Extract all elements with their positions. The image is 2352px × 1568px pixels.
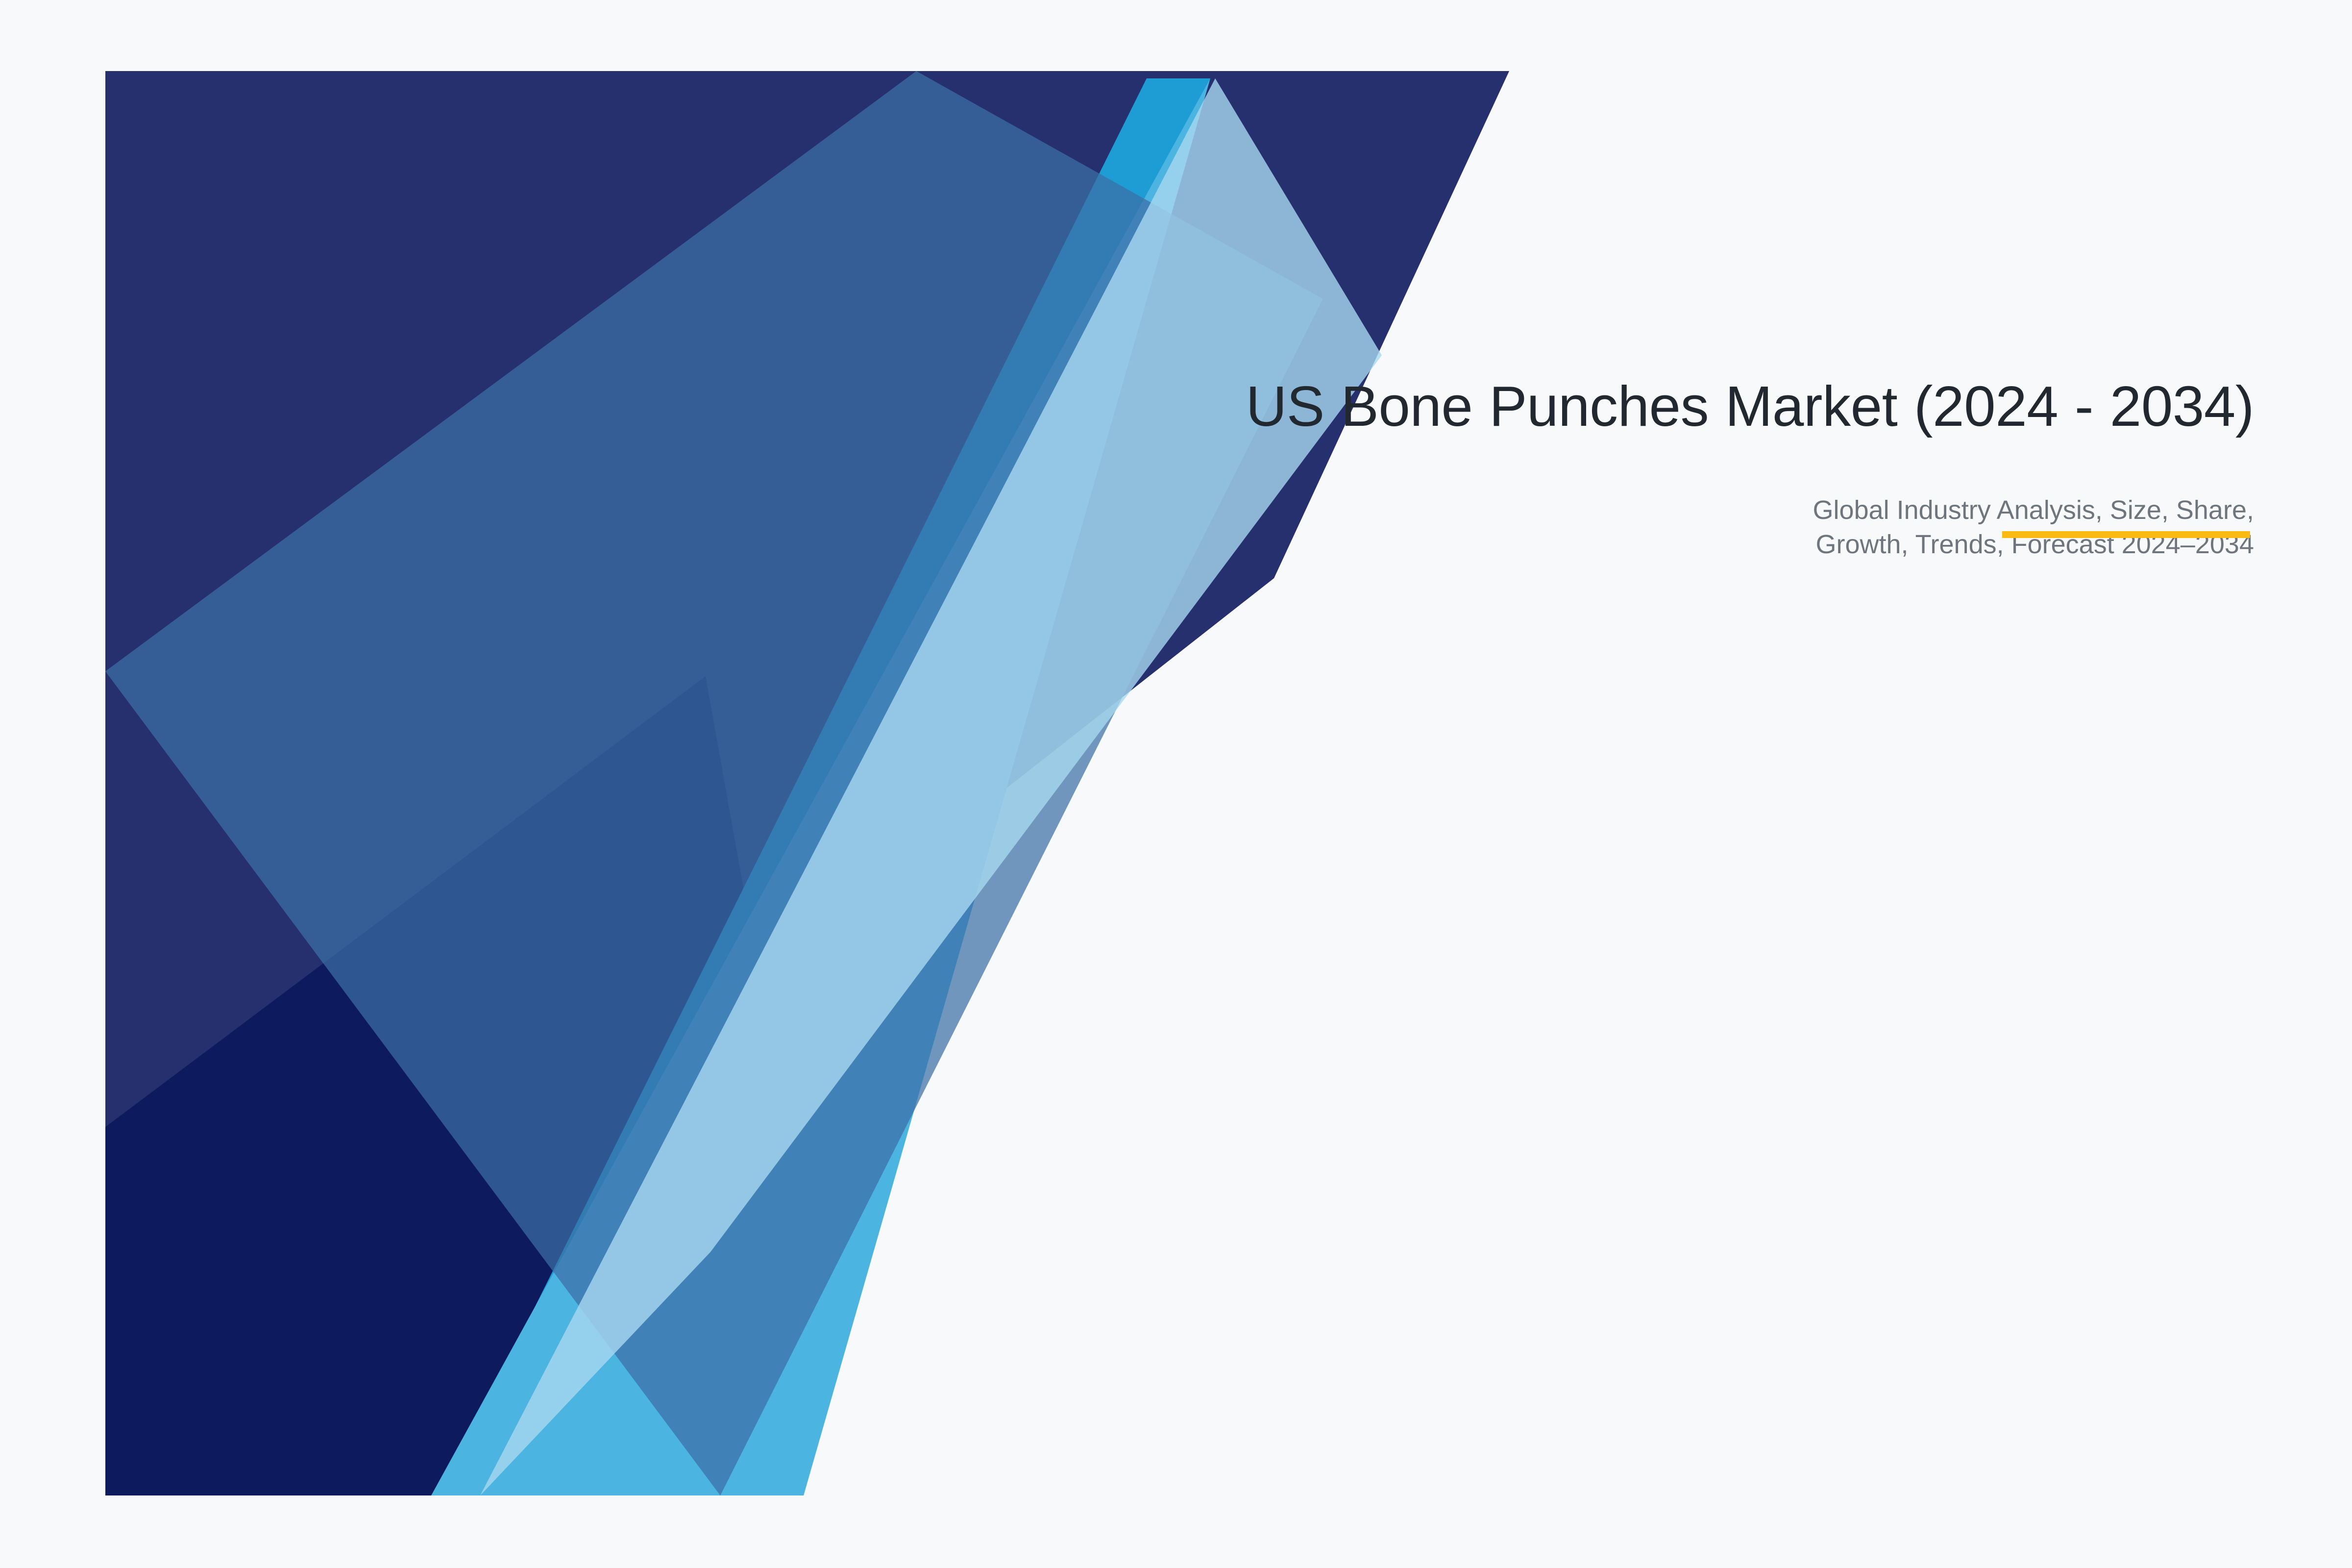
title-text-block: US Bone Punches Market (2024 - 2034) Glo… [995, 372, 2254, 562]
navy-shape [105, 71, 1509, 1495]
title-slide: US Bone Punches Market (2024 - 2034) Glo… [0, 0, 2352, 1568]
page-subtitle: Global Industry Analysis, Size, Share, G… [995, 493, 2254, 562]
title-accent-underline [2002, 531, 2250, 538]
title-wrap: US Bone Punches Market (2024 - 2034) [995, 372, 2254, 440]
sky-blue-band-shape [431, 78, 1210, 1495]
deep-navy-shape [105, 676, 706, 1495]
slate-blue-translucent-shape [105, 71, 1323, 1495]
navy-spike-shape [559, 676, 804, 1298]
pale-blue-translucent-shape [480, 78, 1382, 1495]
decorative-artwork [0, 0, 2352, 1568]
top-right-background-wedge [804, 71, 1509, 1495]
sky-blue-sliver-shape [441, 78, 1210, 1495]
artwork-outer-mask [0, 0, 2352, 1568]
page-title: US Bone Punches Market (2024 - 2034) [995, 372, 2254, 440]
